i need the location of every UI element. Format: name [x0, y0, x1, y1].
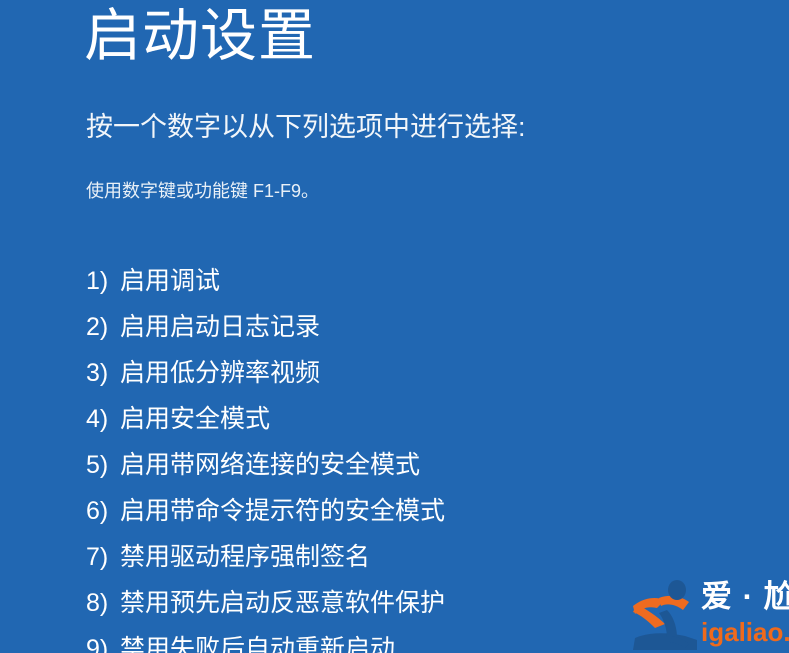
option-key: 3)	[86, 356, 120, 390]
selection-prompt: 按一个数字以从下列选项中进行选择:	[86, 110, 526, 144]
option-key: 7)	[86, 540, 120, 574]
startup-option-1[interactable]: 1)启用调试	[86, 264, 726, 310]
startup-option-2[interactable]: 2)启用启动日志记录	[86, 310, 726, 356]
watermark: 爱 · 尬聊 igaliao.com	[631, 572, 789, 653]
startup-option-4[interactable]: 4)启用安全模式	[86, 402, 726, 448]
option-label: 禁用预先启动反恶意软件保护	[120, 589, 445, 617]
watermark-url-text: igaliao.com	[701, 617, 789, 647]
option-key: 6)	[86, 494, 120, 528]
option-label: 启用安全模式	[120, 405, 270, 433]
option-key: 5)	[86, 448, 120, 482]
startup-option-7[interactable]: 7)禁用驱动程序强制签名	[86, 540, 726, 586]
option-key: 8)	[86, 586, 120, 620]
option-key: 1)	[86, 264, 120, 298]
option-label: 禁用驱动程序强制签名	[120, 543, 370, 571]
option-label: 启用启动日志记录	[120, 313, 320, 341]
option-key: 2)	[86, 310, 120, 344]
option-key: 9)	[86, 632, 120, 653]
option-label: 启用带命令提示符的安全模式	[120, 497, 445, 525]
watermark-brand-text: 爱 · 尬聊	[701, 578, 789, 616]
startup-option-3[interactable]: 3)启用低分辨率视频	[86, 356, 726, 402]
startup-options-list: 1)启用调试 2)启用启动日志记录 3)启用低分辨率视频 4)启用安全模式 5)…	[86, 264, 726, 653]
keyboard-hint: 使用数字键或功能键 F1-F9。	[86, 179, 319, 203]
startup-option-6[interactable]: 6)启用带命令提示符的安全模式	[86, 494, 726, 540]
option-label: 启用调试	[120, 267, 220, 295]
option-label: 启用带网络连接的安全模式	[120, 451, 420, 479]
option-label: 启用低分辨率视频	[120, 359, 320, 387]
page-title: 启动设置	[84, 2, 316, 70]
running-person-logo-icon	[633, 576, 699, 650]
startup-option-9[interactable]: 9)禁用失败后自动重新启动	[86, 632, 726, 653]
option-key: 4)	[86, 402, 120, 436]
startup-option-5[interactable]: 5)启用带网络连接的安全模式	[86, 448, 726, 494]
startup-settings-screen: 启动设置 按一个数字以从下列选项中进行选择: 使用数字键或功能键 F1-F9。 …	[0, 0, 789, 653]
startup-option-8[interactable]: 8)禁用预先启动反恶意软件保护	[86, 586, 726, 632]
option-label: 禁用失败后自动重新启动	[120, 635, 395, 653]
